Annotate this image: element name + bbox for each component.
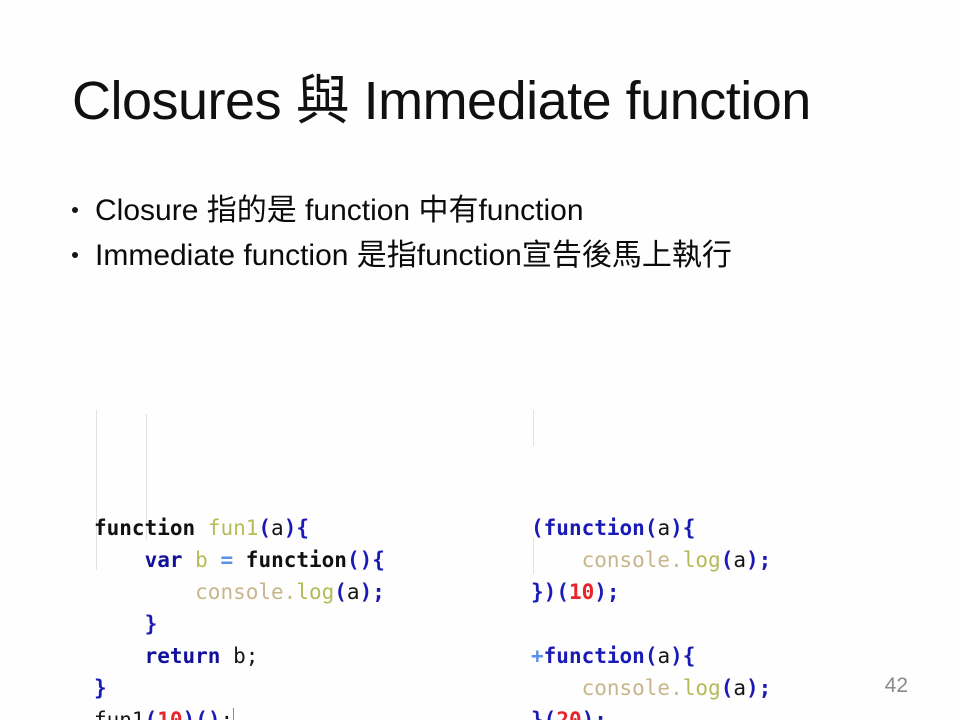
code-token: a xyxy=(733,548,746,572)
code-token: fun1 xyxy=(208,516,259,540)
code-token xyxy=(183,548,196,572)
code-token: ; xyxy=(594,708,607,720)
code-token: 10 xyxy=(569,580,594,604)
code-token: ) xyxy=(183,708,196,720)
code-token: log xyxy=(683,548,721,572)
code-token: ) xyxy=(582,708,595,720)
code-token: + xyxy=(531,644,544,668)
code-token: ; xyxy=(607,580,620,604)
code-token: = xyxy=(220,548,233,572)
code-token: ( xyxy=(334,580,347,604)
code-token: console xyxy=(195,580,284,604)
code-token: return xyxy=(145,644,221,668)
code-token xyxy=(220,644,233,668)
code-token xyxy=(94,548,145,572)
code-token: ; xyxy=(759,548,772,572)
code-line: var b = function(){ xyxy=(94,544,494,576)
code-token: a xyxy=(657,644,670,668)
code-line xyxy=(531,608,931,640)
code-token xyxy=(531,676,582,700)
code-token: . xyxy=(670,676,683,700)
code-token xyxy=(94,612,145,636)
code-token: ) xyxy=(360,580,373,604)
code-token: log xyxy=(296,580,334,604)
code-line: console.log(a); xyxy=(531,544,931,576)
code-token: ) xyxy=(670,516,683,540)
code-token: } xyxy=(145,612,158,636)
code-token: ( xyxy=(556,580,569,604)
code-token xyxy=(94,644,145,668)
code-token: ( xyxy=(531,516,544,540)
bullet-list: Closure 指的是 function 中有function Immediat… xyxy=(66,190,896,279)
code-token: } xyxy=(531,708,544,720)
code-token: ) xyxy=(284,516,297,540)
list-item: Closure 指的是 function 中有function xyxy=(66,190,896,233)
page-title: Closures 與 Immediate function xyxy=(72,70,892,134)
code-token xyxy=(195,516,208,540)
code-token: a xyxy=(271,516,284,540)
code-line: } xyxy=(94,672,494,704)
code-token: ( xyxy=(195,708,208,720)
code-token: ( xyxy=(721,676,734,700)
code-token: ) xyxy=(746,548,759,572)
code-token: 20 xyxy=(556,708,581,720)
bullet-dot-icon xyxy=(72,252,78,258)
code-token: ) xyxy=(360,548,373,572)
code-token: ( xyxy=(544,708,557,720)
code-token: var xyxy=(145,548,183,572)
code-token: a xyxy=(347,580,360,604)
indent-guide xyxy=(533,410,534,446)
code-line: } xyxy=(94,608,494,640)
code-line: console.log(a); xyxy=(94,576,494,608)
code-token: { xyxy=(372,548,385,572)
list-item-label: Closure 指的是 function 中有function xyxy=(95,194,584,227)
list-item: Immediate function 是指function宣告後馬上執行 xyxy=(66,235,896,278)
code-line: function fun1(a){ xyxy=(94,512,494,544)
code-token: ) xyxy=(594,580,607,604)
code-token: log xyxy=(683,676,721,700)
code-line: })(10); xyxy=(531,576,931,608)
code-token: a xyxy=(657,516,670,540)
code-token: . xyxy=(284,580,297,604)
code-token: ) xyxy=(670,644,683,668)
code-token: ( xyxy=(145,708,158,720)
code-token: b xyxy=(195,548,208,572)
code-token: } xyxy=(531,580,544,604)
code-token: ( xyxy=(258,516,271,540)
code-line: +function(a){ xyxy=(531,640,931,672)
code-token: function xyxy=(94,516,195,540)
code-token: function xyxy=(246,548,347,572)
code-token: fun1 xyxy=(94,708,145,720)
code-token: console xyxy=(582,676,671,700)
code-token: ) xyxy=(208,708,221,720)
code-token xyxy=(208,548,221,572)
code-token: ( xyxy=(347,548,360,572)
code-line: }(20); xyxy=(531,704,931,720)
code-line: fun1(10)(); xyxy=(94,704,494,720)
code-token: function xyxy=(544,644,645,668)
code-line: return b; xyxy=(94,640,494,672)
code-token: ) xyxy=(544,580,557,604)
code-token: ) xyxy=(746,676,759,700)
code-token: console xyxy=(582,548,671,572)
code-token xyxy=(233,548,246,572)
code-token: a xyxy=(733,676,746,700)
code-line: console.log(a); xyxy=(531,672,931,704)
code-token: { xyxy=(683,516,696,540)
slide-canvas: Closures 與 Immediate function Closure 指的… xyxy=(0,0,960,720)
code-line: (function(a){ xyxy=(531,512,931,544)
code-token: ; xyxy=(759,676,772,700)
code-token: 10 xyxy=(157,708,182,720)
code-token: function xyxy=(544,516,645,540)
bullet-dot-icon xyxy=(72,207,78,213)
code-token: ; xyxy=(372,580,385,604)
code-token: ( xyxy=(645,644,658,668)
code-block-closure: function fun1(a){ var b = function(){ co… xyxy=(94,384,494,720)
code-token: . xyxy=(670,548,683,572)
code-token xyxy=(94,580,195,604)
code-token: b xyxy=(233,644,246,668)
code-block-immediate-function: (function(a){ console.log(a);})(10);+fun… xyxy=(531,384,931,720)
code-token xyxy=(531,548,582,572)
code-token: { xyxy=(683,644,696,668)
list-item-label: Immediate function 是指function宣告後馬上執行 xyxy=(95,239,732,272)
text-caret xyxy=(233,708,234,720)
code-token: ( xyxy=(645,516,658,540)
code-token: } xyxy=(94,676,107,700)
code-token: ( xyxy=(721,548,734,572)
code-token: { xyxy=(296,516,309,540)
page-number: 42 xyxy=(885,674,908,698)
code-token: ; xyxy=(246,644,259,668)
code-token: ; xyxy=(221,708,234,720)
